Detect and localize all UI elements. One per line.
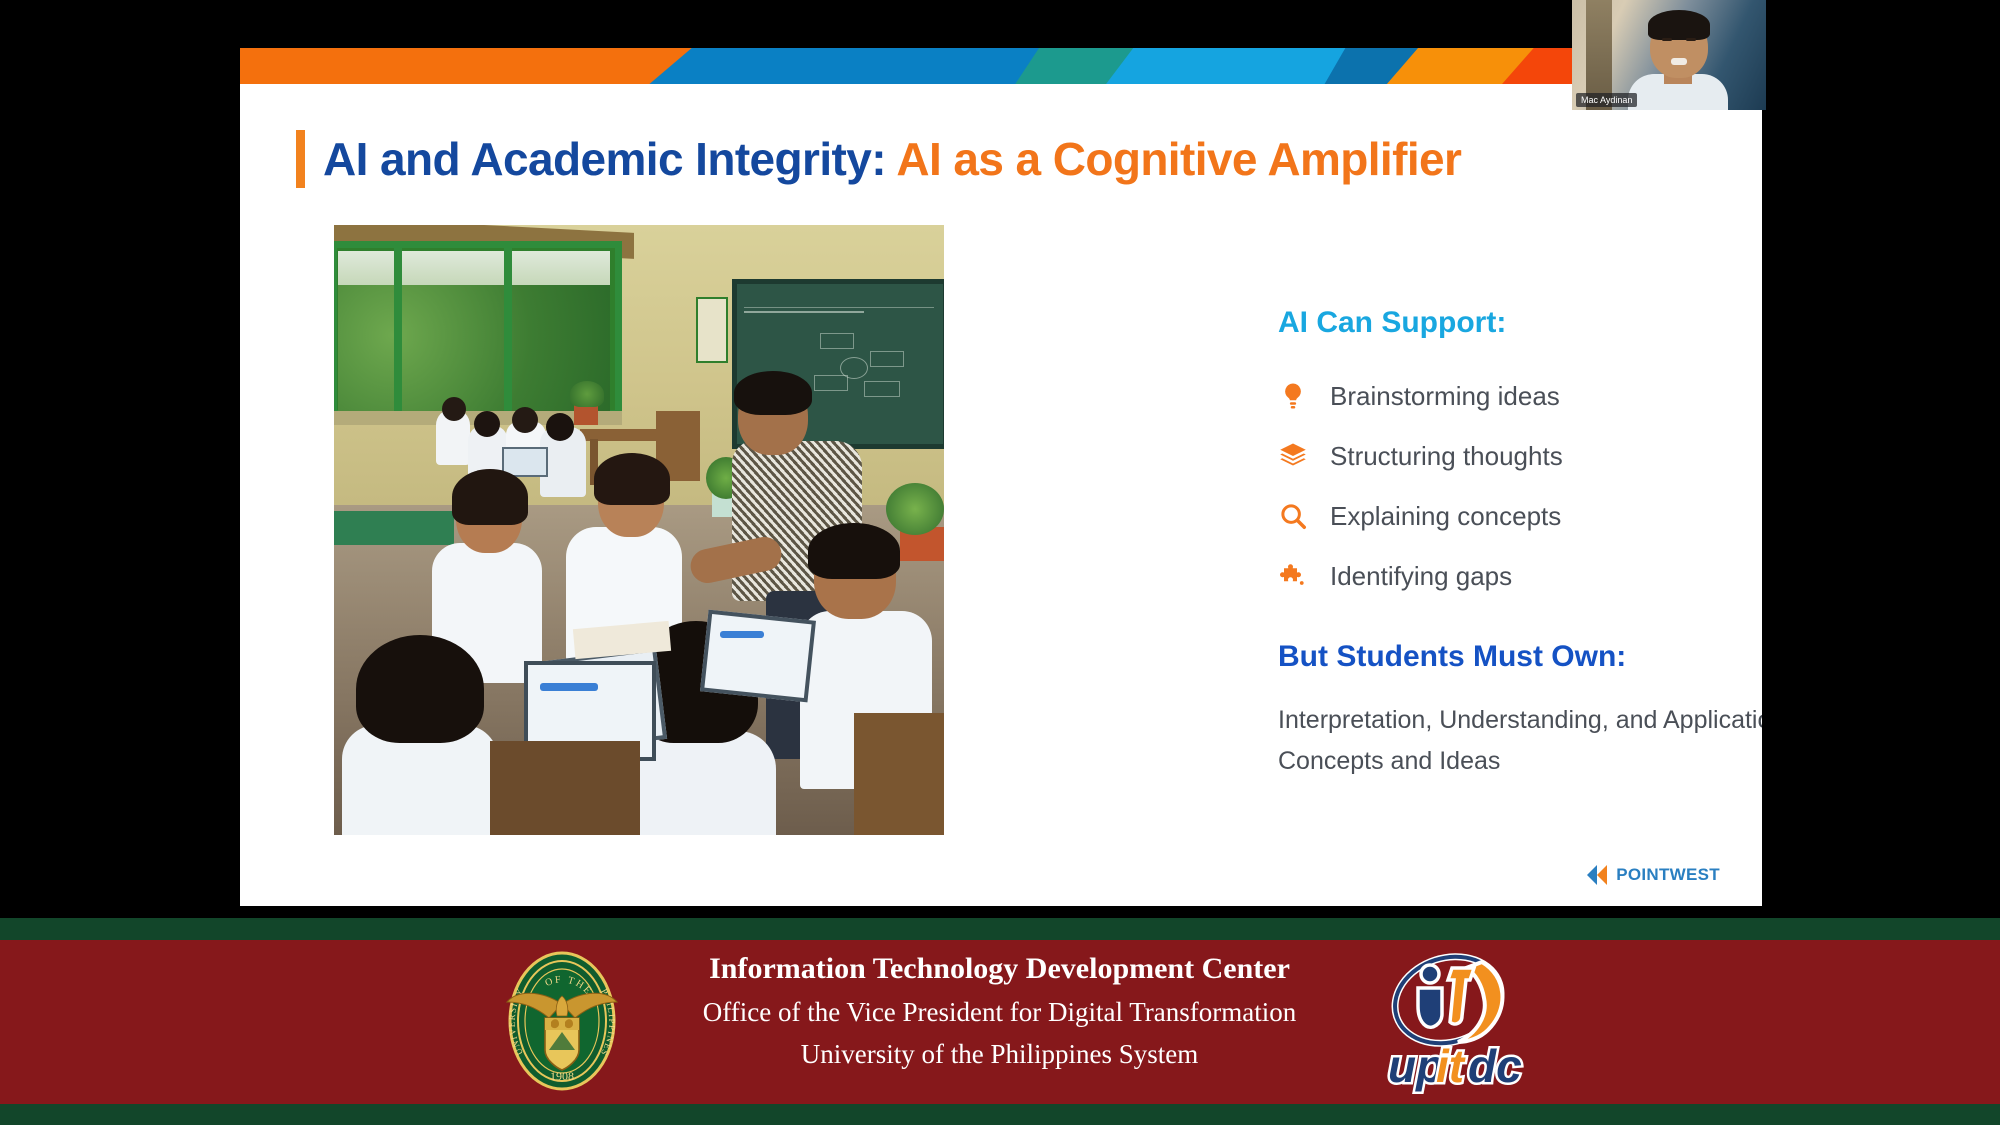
footer-text-block: Information Technology Development Cente… xyxy=(637,948,1362,1075)
photo-student-bg-3-head xyxy=(512,407,538,433)
list-item-label: Explaining concepts xyxy=(1330,501,1561,532)
list-item-label: Identifying gaps xyxy=(1330,561,1512,592)
photo-blackboard-node-a xyxy=(820,333,854,349)
photo-laptop-front-center-ui xyxy=(540,683,598,691)
support-list: Brainstorming ideas Structuring thoughts xyxy=(1278,366,1762,606)
participant-name-label: Mac Aydinan xyxy=(1576,93,1637,107)
photo-blackboard-node-b xyxy=(870,351,904,367)
layers-icon xyxy=(1278,441,1308,471)
photo-wall-poster xyxy=(696,297,728,363)
photo-bench-right xyxy=(854,713,944,835)
webcam-tile[interactable]: Mac Aydinan xyxy=(1572,0,1766,110)
screen: AI and Academic Integrity: AI as a Cogni… xyxy=(0,0,2000,1125)
upitdc-text-it: it xyxy=(1436,1040,1466,1092)
footer-green-strip-bottom xyxy=(0,1104,2000,1125)
accent-segment-blue xyxy=(640,48,1060,84)
upitdc-logo: up it dc xyxy=(1370,942,1530,1100)
upitdc-text-dc: dc xyxy=(1468,1040,1522,1092)
photo-plant-leaves-right xyxy=(886,483,944,535)
photo-student-bg-1-head xyxy=(442,397,466,421)
footer-banner: OF THE UNIVERSITY PHILIPPINES xyxy=(0,940,2000,1104)
photo-window-mullion-2 xyxy=(504,243,512,415)
webcam-person-eye-right xyxy=(1686,38,1696,41)
photo-teacher-hair xyxy=(734,371,812,415)
webcam-person-hair xyxy=(1648,10,1710,40)
pointwest-logo: POINTWEST xyxy=(1585,864,1720,886)
photo-student-boy-right-hair xyxy=(808,523,900,579)
slide-right-column: AI Can Support: Brainstorming ideas xyxy=(1278,306,1762,781)
webcam-person-eye-left xyxy=(1662,38,1672,41)
title-segment-highlight: AI as a Cognitive Amplifier xyxy=(896,133,1461,185)
photo-blackboard-writing xyxy=(744,311,864,313)
photo-blackboard-node-d xyxy=(864,381,900,397)
own-heading: But Students Must Own: xyxy=(1278,640,1762,674)
photo-student-girl-2-hair xyxy=(594,453,670,505)
footer-line-3: University of the Philippines System xyxy=(637,1033,1362,1075)
photo-window-mullion xyxy=(394,243,402,415)
photo-student-boy-front-left-head xyxy=(356,635,484,743)
photo-laptop-right xyxy=(700,610,816,703)
list-item: Identifying gaps xyxy=(1278,546,1762,606)
list-item-label: Brainstorming ideas xyxy=(1330,381,1560,412)
accent-segment-orange xyxy=(240,48,720,84)
photo-blackboard-node-c xyxy=(814,375,848,391)
chevron-left-icon xyxy=(1585,864,1611,886)
puzzle-piece-icon xyxy=(1278,561,1308,591)
slide-title-row: AI and Academic Integrity: AI as a Cogni… xyxy=(296,130,1461,188)
list-item: Brainstorming ideas xyxy=(1278,366,1762,426)
up-seal: OF THE UNIVERSITY PHILIPPINES xyxy=(487,946,637,1096)
photo-student-bg-4-head xyxy=(546,413,574,441)
list-item: Structuring thoughts xyxy=(1278,426,1762,486)
lightbulb-icon xyxy=(1278,381,1308,411)
footer-green-strip-top xyxy=(0,918,2000,940)
own-body-text: Interpretation, Understanding, and Appli… xyxy=(1278,700,1762,781)
list-item-label: Structuring thoughts xyxy=(1330,441,1563,472)
own-block: But Students Must Own: Interpretation, U… xyxy=(1278,640,1762,781)
webcam-person-mouth xyxy=(1671,58,1687,65)
photo-desk-front xyxy=(490,741,640,835)
page-title: AI and Academic Integrity: AI as a Cogni… xyxy=(323,132,1461,186)
footer-line-1: Information Technology Development Cente… xyxy=(637,948,1362,991)
photo-wainscot xyxy=(334,511,454,545)
pointwest-wordmark: POINTWEST xyxy=(1616,865,1720,885)
photo-laptop-right-ui xyxy=(720,631,764,638)
list-item: Explaining concepts xyxy=(1278,486,1762,546)
photo-student-bg-2-head xyxy=(474,411,500,437)
slide-accent-bar xyxy=(240,48,1762,84)
support-heading: AI Can Support: xyxy=(1278,306,1762,340)
presentation-slide: AI and Academic Integrity: AI as a Cogni… xyxy=(240,48,1762,906)
photo-blackboard-writing-2 xyxy=(744,307,934,308)
photo-plant-leaves-left xyxy=(570,381,604,407)
magnifier-icon xyxy=(1278,501,1308,531)
title-accent-bar xyxy=(296,130,305,188)
classroom-photo xyxy=(334,225,944,835)
seal-year: 1908 xyxy=(550,1069,574,1083)
title-segment-primary: AI and Academic Integrity: xyxy=(323,133,896,185)
photo-student-girl-1-hair xyxy=(452,469,528,525)
footer-line-2: Office of the Vice President for Digital… xyxy=(637,991,1362,1033)
